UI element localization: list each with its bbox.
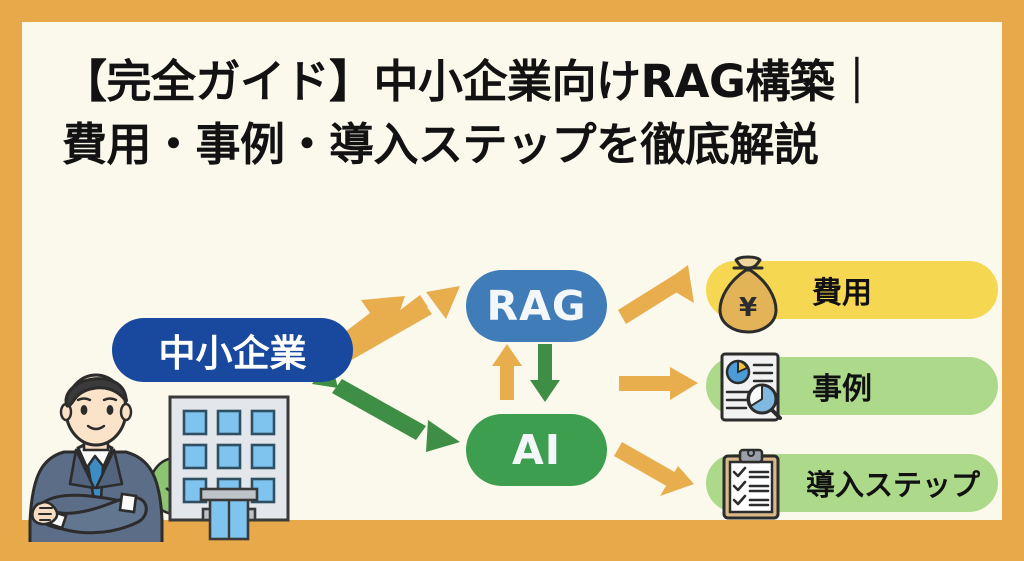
poster-canvas: 【完全ガイド】中小企業向けRAG構築｜ 費用・事例・導入ステップを徹底解説 .o… bbox=[0, 0, 1024, 561]
inner-panel: 【完全ガイド】中小企業向けRAG構築｜ 費用・事例・導入ステップを徹底解説 .o… bbox=[22, 22, 1002, 542]
building-entrance bbox=[201, 489, 257, 539]
businessman-arms-crossed-illustration bbox=[30, 375, 162, 542]
left-illustration bbox=[22, 22, 1002, 542]
